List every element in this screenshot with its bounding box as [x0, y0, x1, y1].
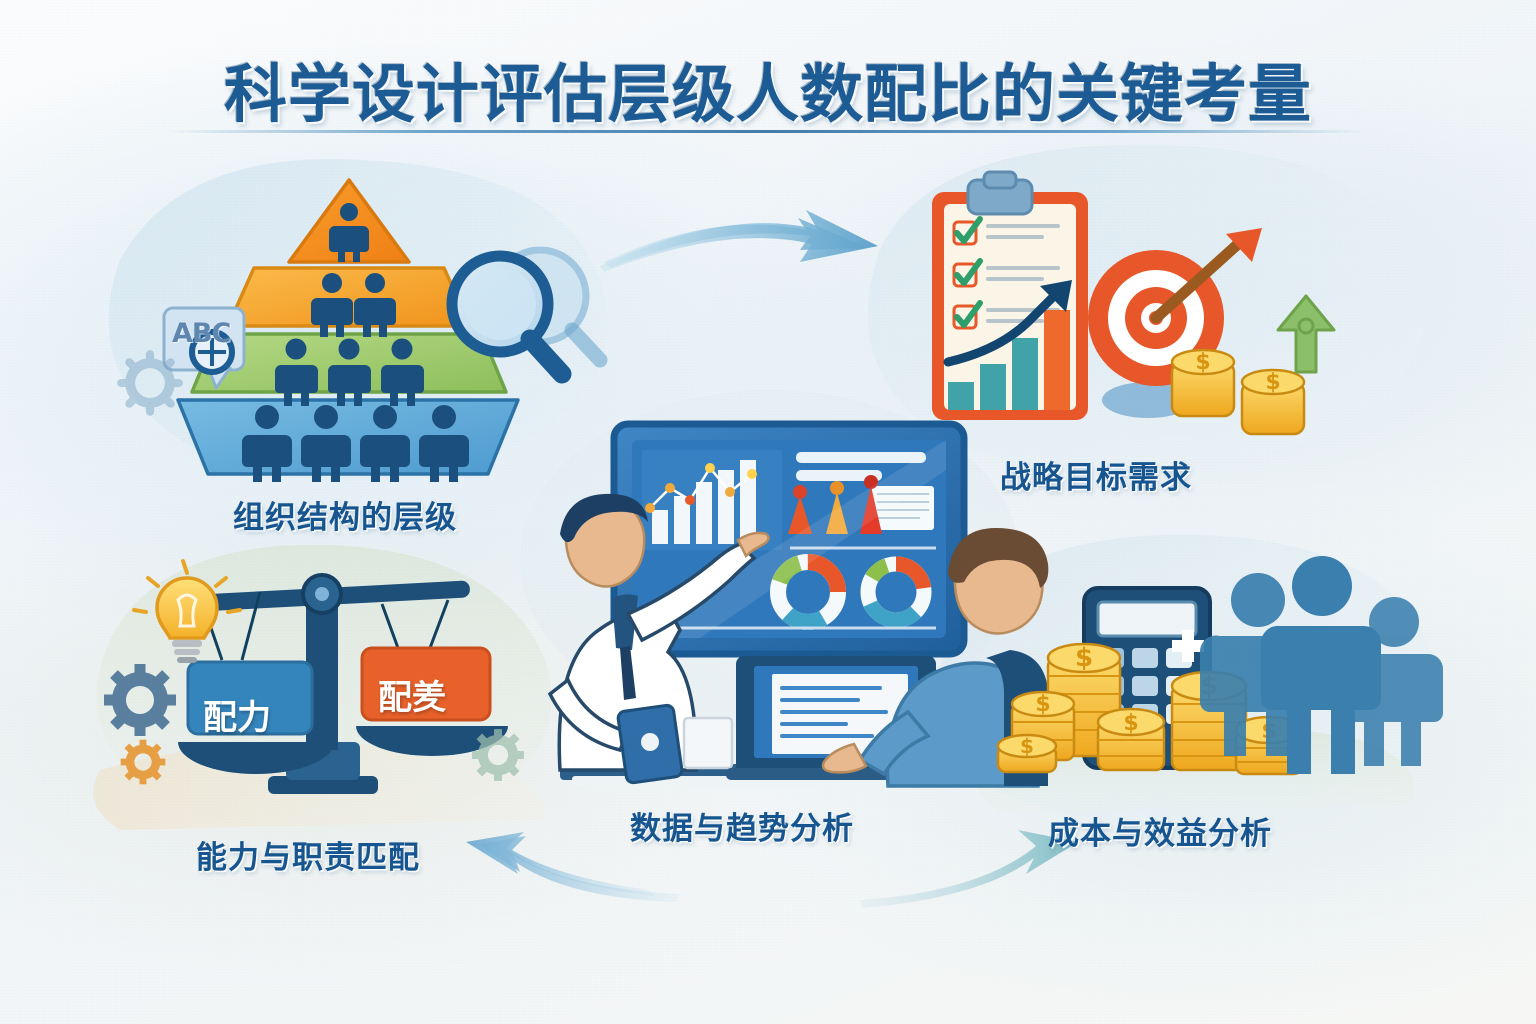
- target-icon: [1088, 228, 1262, 418]
- line-chart: [645, 463, 757, 513]
- svg-text:$: $: [1123, 711, 1138, 736]
- up-arrow-icon: [1278, 296, 1334, 372]
- pyramid-person-group-top: [329, 203, 369, 262]
- svg-text:$: $: [1200, 671, 1218, 701]
- pyramid-person-group-middle: [275, 339, 424, 407]
- person-analyst-icon: [823, 528, 1048, 786]
- balance-scale-icon: [178, 575, 508, 794]
- caption-strategy: 战略目标需求: [1000, 452, 1192, 497]
- clipboard-icon: [932, 172, 1088, 420]
- scale-left-plate-label: 配力: [203, 690, 271, 739]
- target-arrow-icon: [1156, 228, 1262, 318]
- checkmark-icon: [954, 219, 1060, 244]
- pyramid-person-group-upper: [311, 273, 396, 337]
- checkmark-icon: [954, 303, 1060, 328]
- caption-structure: 组织结构的层级: [233, 492, 457, 537]
- checkmark-icon: [954, 261, 1060, 286]
- title-underline-rule: [166, 130, 1366, 133]
- gear-icon: [104, 664, 524, 784]
- people-chart-figures: [788, 475, 882, 534]
- bar-chart: [652, 460, 756, 544]
- infographic-canvas: 科学设计评估层级人数配比的关键考量: [0, 0, 1536, 1024]
- svg-text:$: $: [1265, 370, 1280, 395]
- desk-surface: [560, 764, 1000, 780]
- people-group-icon: [1200, 556, 1443, 774]
- coin-stack-icon: $ $ $: [998, 643, 1302, 774]
- donut-chart: [767, 551, 849, 633]
- coin-stack-icon: $ $: [1172, 350, 1304, 434]
- person-presenter-icon: [550, 494, 769, 784]
- caption-data: 数据与趋势分析: [630, 803, 854, 848]
- svg-text:$: $: [1261, 719, 1276, 744]
- laptop-icon: [726, 656, 946, 780]
- abc-badge-label: ABC: [172, 318, 230, 349]
- scale-right-plate-label: 配羑: [378, 670, 446, 719]
- svg-text:$: $: [1195, 350, 1210, 375]
- lightbulb-icon: [134, 561, 240, 663]
- arrow-data-to-cost: [860, 830, 1078, 908]
- magnifier-icon: [452, 250, 600, 374]
- trend-arrow-icon: [948, 280, 1072, 362]
- svg-text:$: $: [1035, 692, 1050, 717]
- caption-cost: 成本与效益分析: [1048, 808, 1272, 853]
- donut-chart: [856, 552, 935, 631]
- pyramid-person-group-base: [242, 405, 469, 482]
- svg-text:$: $: [1020, 734, 1034, 758]
- svg-text:$: $: [1075, 643, 1093, 673]
- calculator-icon: [1084, 588, 1210, 768]
- monitor-dashboard-icon: [614, 424, 964, 654]
- gear-icon: [121, 354, 179, 412]
- bar-chart-icon: [948, 310, 1070, 410]
- caption-capability: 能力与职责匹配: [196, 832, 420, 877]
- page-title: 科学设计评估层级人数配比的关键考量: [0, 44, 1536, 135]
- arrow-structure-to-strategy: [600, 210, 878, 272]
- page-title-text: 科学设计评估层级人数配比的关键考量: [224, 44, 1312, 135]
- desk-object: [684, 718, 732, 768]
